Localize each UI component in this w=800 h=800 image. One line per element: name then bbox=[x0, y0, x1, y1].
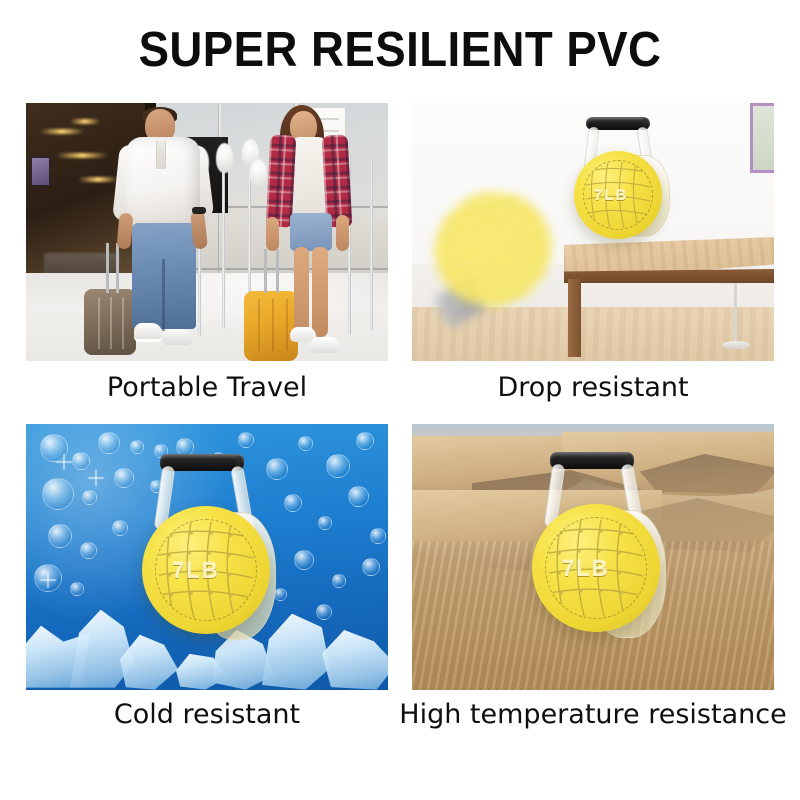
sneaker-right bbox=[162, 329, 192, 345]
feature-panel-high-temperature: 7LB High temperature resistance bbox=[412, 424, 774, 690]
water-droplet bbox=[356, 432, 374, 450]
water-droplet bbox=[294, 550, 314, 570]
shirt-placket bbox=[156, 141, 166, 169]
sparkle bbox=[40, 572, 56, 588]
suitcase-seam bbox=[98, 297, 100, 349]
water-droplet bbox=[42, 478, 74, 510]
water-droplet bbox=[370, 528, 386, 544]
kettlebell-product: 7LB bbox=[516, 444, 680, 660]
water-droplet bbox=[82, 490, 97, 505]
kettlebell-weight-label: 7LB bbox=[594, 187, 628, 204]
drop-resistant-photo: 7LB bbox=[412, 103, 774, 361]
water-droplet bbox=[298, 436, 313, 451]
suitcase-seam bbox=[258, 299, 260, 351]
leg-left bbox=[294, 247, 309, 333]
panel-caption-high-temperature: High temperature resistance bbox=[392, 698, 794, 732]
product-feature-infographic: SUPER RESILIENT PVC bbox=[0, 0, 800, 800]
water-droplet bbox=[48, 524, 72, 548]
stanchion-pole bbox=[370, 159, 373, 331]
floor-lamp-base bbox=[722, 341, 750, 349]
leg-right bbox=[312, 247, 328, 337]
water-droplet bbox=[326, 454, 350, 478]
wall-picture-frame bbox=[750, 103, 774, 173]
sneaker-left bbox=[134, 323, 162, 342]
cold-resistant-photo: 7LB bbox=[26, 424, 388, 690]
sparkle bbox=[56, 454, 72, 470]
ceiling-light bbox=[40, 129, 84, 134]
kettlebell-face: 7LB bbox=[142, 506, 270, 634]
male-traveler bbox=[112, 109, 222, 355]
feature-panel-portable-travel: Portable Travel bbox=[26, 103, 388, 361]
denim-shorts bbox=[290, 213, 332, 251]
panel-caption-portable-travel: Portable Travel bbox=[6, 371, 408, 405]
kettlebell-weight-label: 7LB bbox=[562, 556, 610, 582]
water-droplet bbox=[318, 516, 332, 530]
feature-panel-cold-resistant: 7LB Cold resistant bbox=[26, 424, 388, 690]
water-droplet bbox=[348, 486, 369, 507]
wristwatch bbox=[192, 207, 206, 214]
water-droplet bbox=[70, 582, 84, 596]
kettlebell-face: 7LB bbox=[574, 151, 662, 239]
high-temperature-photo: 7LB bbox=[412, 424, 774, 690]
kettlebell-product: 7LB bbox=[562, 115, 674, 245]
feature-panel-drop-resistant: 7LB Drop resistant bbox=[412, 103, 774, 361]
kettlebell-weight-label: 7LB bbox=[172, 558, 220, 584]
jeans-seam bbox=[162, 259, 165, 331]
panel-caption-drop-resistant: Drop resistant bbox=[392, 371, 794, 405]
arm-left bbox=[116, 212, 133, 249]
sneaker-right bbox=[310, 337, 340, 353]
kettlebell-product: 7LB bbox=[126, 446, 290, 662]
flight-monitor bbox=[31, 157, 50, 186]
kettlebell-face: 7LB bbox=[532, 504, 660, 632]
water-droplet bbox=[72, 452, 90, 470]
arm-left bbox=[266, 217, 279, 251]
suitcase-handle bbox=[106, 243, 109, 293]
falling-kettlebell-blur bbox=[414, 171, 572, 327]
water-droplet bbox=[98, 432, 120, 454]
water-droplet bbox=[80, 542, 97, 559]
ice-chunk bbox=[322, 628, 388, 690]
floor-lamp-stem bbox=[734, 283, 737, 345]
page-title: SUPER RESILIENT PVC bbox=[28, 22, 772, 78]
water-droplet bbox=[362, 558, 380, 576]
wooden-table-leg bbox=[568, 279, 581, 357]
water-droplet bbox=[332, 574, 346, 588]
stanchion-pole bbox=[222, 147, 225, 329]
arm-right bbox=[336, 215, 349, 251]
ceiling-light bbox=[70, 119, 100, 124]
ceiling-light bbox=[56, 153, 108, 158]
sparkle bbox=[88, 470, 104, 486]
panel-caption-cold-resistant: Cold resistant bbox=[6, 698, 408, 732]
female-traveler bbox=[262, 105, 366, 357]
airport-travel-photo bbox=[26, 103, 388, 361]
